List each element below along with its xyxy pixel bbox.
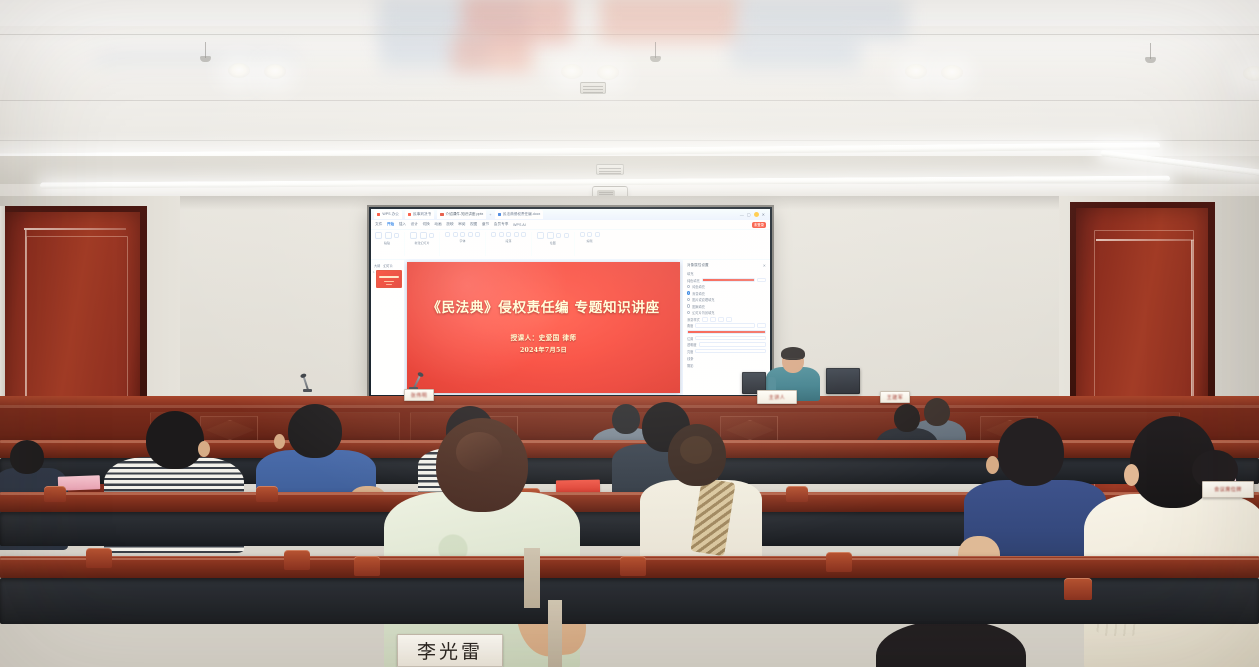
bold-icon[interactable]: [445, 232, 450, 237]
underline-icon[interactable]: [460, 232, 465, 237]
bench-armrest-cap: [256, 486, 278, 502]
format-painter-icon[interactable]: [394, 233, 399, 238]
person-head: [894, 404, 920, 432]
nameplate-text: 王建军: [887, 394, 904, 401]
person-hair-bun: [680, 436, 712, 464]
outline-tab[interactable]: 大纲: [374, 263, 380, 268]
ribbon-tab-animation[interactable]: 动画: [434, 222, 441, 227]
angle-stepper[interactable]: [757, 323, 766, 328]
italic-icon[interactable]: [453, 232, 458, 237]
brightness-row[interactable]: 亮度: [687, 349, 766, 354]
nameplate-text: 李光雷: [417, 637, 483, 664]
wps-tab[interactable]: 民事判决书: [405, 210, 434, 219]
fill-option-row[interactable]: 纯色填充: [687, 284, 766, 289]
radio-picture-fill-icon[interactable]: [687, 298, 690, 301]
font-size-icon[interactable]: [468, 232, 473, 237]
position-input[interactable]: [695, 336, 766, 341]
ceiling-vent: [596, 164, 624, 175]
person-head: [288, 404, 342, 458]
person-ear: [274, 434, 285, 449]
ribbon-tab-member[interactable]: 会员专享: [494, 222, 509, 227]
speaker-nameplate: 主讲人: [757, 390, 797, 404]
radio-pattern-fill-icon[interactable]: [687, 304, 690, 307]
gradient-style-swatch[interactable]: [718, 317, 724, 322]
audience-nameplate-front: 李光雷: [397, 634, 503, 667]
ceiling-reflection: [730, 36, 860, 70]
fill-dropdown[interactable]: [757, 278, 766, 283]
slide-canvas[interactable]: 《民法典》侵权责任编 专题知识讲座 授课人：史爱国 律师 2024年7月5日: [405, 260, 682, 395]
fill-option-row[interactable]: 图片或纹理填充: [687, 297, 766, 302]
gradient-style-swatch[interactable]: [710, 317, 716, 322]
bench-armrest-cap: [786, 486, 808, 502]
section-icon[interactable]: [429, 233, 434, 238]
layout-icon[interactable]: [420, 232, 427, 239]
transparency-label: 透明度: [687, 342, 697, 347]
ribbon-tab-slideshow[interactable]: 放映: [446, 222, 453, 227]
wps-tab-add[interactable]: +: [489, 212, 491, 217]
ribbon-group-newslide[interactable]: 新建幻灯片: [410, 232, 434, 245]
door-light-gap: [1096, 239, 1194, 241]
ribbon-tab-home[interactable]: 开始: [387, 222, 394, 227]
ribbon-tab-wpsai[interactable]: WPS AI: [513, 223, 526, 227]
wps-tab[interactable]: 民法典侵权责任编.docx: [495, 210, 544, 219]
slide-number: 1: [373, 270, 375, 274]
microphone-base: [303, 389, 312, 392]
side-nameplate: 会议席位牌: [1202, 481, 1254, 498]
radio-background-fill-icon[interactable]: [687, 311, 690, 314]
option-label: 图案填充: [692, 304, 705, 309]
fill-color-bar[interactable]: [702, 278, 755, 283]
ceiling-reflection: [452, 36, 532, 72]
ribbon-tab-section[interactable]: 章节: [482, 222, 489, 227]
ribbon-group-label: 新建幻灯片: [414, 241, 429, 245]
ribbon-tab-insert[interactable]: 插入: [399, 222, 406, 227]
ceiling-spotlight: [1243, 66, 1259, 81]
speaker-laptop: [826, 368, 860, 394]
ceiling-reflection: [600, 0, 740, 42]
tab-icon: [377, 213, 380, 216]
ribbon-tab-transition[interactable]: 切换: [423, 222, 430, 227]
paste-icon[interactable]: [375, 232, 382, 239]
audience-person-p13: [876, 620, 1026, 667]
person-ear: [986, 456, 999, 474]
bench-armrest-cap: [284, 550, 310, 570]
account-avatar-icon[interactable]: [754, 212, 759, 217]
bench-armrest-cap: [1064, 578, 1092, 600]
ribbon-separator: [485, 232, 486, 256]
gradient-style-swatch[interactable]: [702, 317, 708, 322]
ribbon-group-font[interactable]: 字体: [445, 232, 480, 243]
ribbon-tab-review[interactable]: 审阅: [458, 222, 465, 227]
transparency-row[interactable]: 透明度: [687, 342, 766, 347]
ribbon-group-editing[interactable]: 编辑: [580, 232, 600, 243]
floor-strip: [524, 548, 540, 608]
gradient-style-label: 渐变样式: [687, 317, 700, 322]
ceiling-spotlight: [561, 64, 583, 79]
speaker-glasses: [783, 358, 803, 362]
slides-tab[interactable]: 幻灯片: [383, 263, 393, 268]
login-pill[interactable]: 未登录: [752, 222, 766, 228]
ceiling-spotlight: [264, 64, 286, 79]
radio-gradient-fill-icon[interactable]: [687, 291, 690, 294]
person-head: [876, 620, 1026, 667]
line-spacing-icon[interactable]: [521, 232, 526, 237]
tab-icon: [408, 213, 411, 216]
slide-thumbnail-1[interactable]: [376, 270, 402, 288]
ribbon-group-paste[interactable]: 粘贴: [375, 232, 399, 245]
thumbnail-date-line: [386, 284, 392, 285]
ceiling-hanger: [205, 42, 206, 58]
slide-presenter: 授课人：史爱国 律师: [511, 332, 577, 342]
shapes-icon[interactable]: [537, 232, 544, 239]
thumbnail-title-line: [379, 276, 399, 278]
position-label: 位置: [687, 336, 693, 341]
fill-option-row[interactable]: 幻灯片背景填充: [687, 310, 766, 315]
ribbon-group-label: 绘图: [550, 241, 556, 245]
gradient-style-row[interactable]: 渐变样式: [687, 317, 766, 322]
slide-content[interactable]: 《民法典》侵权责任编 专题知识讲座 授课人：史爱国 律师 2024年7月5日: [407, 262, 680, 393]
arrange-icon[interactable]: [547, 232, 554, 239]
ceiling-spotlight: [905, 64, 927, 79]
option-label: 纯色填充: [692, 284, 705, 289]
slide-date: 2024年7月5日: [520, 345, 567, 354]
nameplate-text: 张伟明: [411, 392, 428, 399]
person-head: [146, 411, 204, 469]
ribbon-tab-file[interactable]: 文件: [375, 222, 382, 227]
find-icon[interactable]: [580, 232, 585, 237]
copy-icon[interactable]: [385, 232, 392, 239]
shadow-section-label: 阴影: [687, 363, 766, 368]
ribbon-separator: [439, 232, 440, 256]
position-row[interactable]: 位置: [687, 336, 766, 341]
wps-tab[interactable]: WPS 办公: [374, 210, 402, 219]
pane-title-row: 对象属性设置 ✕: [687, 263, 766, 268]
font-color-icon[interactable]: [475, 232, 480, 237]
ribbon-group-label: 字体: [459, 239, 465, 243]
gradient-style-swatch[interactable]: [726, 317, 732, 322]
angle-input[interactable]: [695, 323, 755, 328]
line-section-label: 线条: [687, 356, 766, 361]
audience-person-p10: [640, 424, 762, 564]
wps-tab-label: 民事判决书: [413, 212, 431, 217]
transparency-input[interactable]: [699, 342, 766, 347]
ribbon-group-label: 段落: [505, 239, 511, 243]
ribbon-tab-design[interactable]: 设计: [411, 222, 418, 227]
bench-armrest-cap: [826, 552, 852, 572]
ribbon-group-drawing[interactable]: 绘图: [537, 232, 569, 245]
door-light-gap: [24, 228, 126, 230]
wps-workspace[interactable]: 大纲 幻灯片 1 《民法典》侵权责任编 专题知识讲座: [371, 260, 770, 395]
nameplate-text: 会议席位牌: [1214, 486, 1242, 493]
fill-icon[interactable]: [556, 233, 561, 238]
person-ear: [1124, 464, 1139, 486]
option-label: 幻灯片背景填充: [692, 310, 714, 315]
nameplate-text: 主讲人: [769, 394, 786, 401]
thumbnail-panel-header[interactable]: 大纲 幻灯片: [373, 263, 402, 268]
ribbon-separator: [531, 232, 532, 256]
option-label: 渐变填充: [692, 291, 705, 296]
bench-armrest-cap: [620, 556, 646, 576]
brightness-label: 亮度: [687, 349, 693, 354]
lecture-room-photo: WPS 办公 民事判决书 介绍课件-知识讲座.pptx + 民法典侵权责任编.d…: [0, 0, 1259, 667]
fill-label: 纯色填充: [687, 278, 700, 283]
person-head: [998, 418, 1064, 486]
slide-title: 《民法典》侵权责任编 专题知识讲座: [427, 301, 659, 317]
wps-ribbon-tabs[interactable]: 文件 开始 插入 设计 切换 动画 放映 审阅 视图 章节 会员专享 WPS A…: [371, 220, 770, 230]
tab-icon: [440, 213, 443, 216]
fill-option-row[interactable]: 渐变填充: [687, 291, 766, 296]
laptop-screen: [827, 369, 859, 393]
window-controls[interactable]: — ▢ ✕: [740, 212, 767, 217]
projection-screen: WPS 办公 民事判决书 介绍课件-知识讲座.pptx + 民法典侵权责任编.d…: [369, 207, 772, 397]
tab-icon: [498, 213, 501, 216]
ribbon-group-label: 粘贴: [384, 241, 390, 245]
bench-armrest-cap: [44, 486, 66, 502]
bench-armrest-cap: [354, 556, 380, 576]
new-slide-icon[interactable]: [410, 232, 417, 239]
pane-close-icon[interactable]: ✕: [763, 263, 766, 268]
ribbon-group-paragraph[interactable]: 段落: [491, 232, 526, 243]
ribbon-group-label: 编辑: [586, 239, 592, 243]
align-left-icon[interactable]: [506, 232, 511, 237]
bullets-icon[interactable]: [491, 232, 496, 237]
close-icon[interactable]: ✕: [762, 212, 765, 217]
front-nameplate: 张伟明: [404, 389, 434, 401]
pane-section-label: 填充: [687, 271, 766, 276]
outline-icon[interactable]: [564, 233, 569, 238]
ribbon-right-actions[interactable]: 未登录: [752, 222, 766, 228]
floor-strip: [548, 600, 562, 667]
bench-armrest-cap: [86, 548, 112, 568]
minimize-icon[interactable]: —: [740, 212, 744, 217]
ceiling-reflection: [96, 50, 296, 68]
ceiling-spotlight: [941, 65, 963, 80]
audience-person-p12: [1084, 416, 1259, 667]
stop-color-row[interactable]: [687, 330, 766, 335]
ribbon-separator: [404, 232, 405, 256]
select-icon[interactable]: [595, 232, 600, 237]
angle-label: 角度: [687, 323, 693, 328]
wps-tab-label: WPS 办公: [382, 212, 398, 217]
align-center-icon[interactable]: [514, 232, 519, 237]
brightness-input[interactable]: [695, 349, 766, 354]
ceiling-vent: [580, 82, 606, 94]
person-head: [10, 440, 44, 474]
radio-solid-fill-icon[interactable]: [687, 285, 690, 288]
slide-thumbnail-panel[interactable]: 大纲 幻灯片 1: [371, 260, 405, 395]
fill-color-row[interactable]: 纯色填充: [687, 278, 766, 283]
thumbnail-subtitle-line: [384, 281, 394, 282]
ceiling-reflection: [738, 0, 908, 40]
ribbon-tab-view[interactable]: 视图: [470, 222, 477, 227]
ceiling-spotlight: [597, 65, 619, 80]
wps-tab-label: 介绍课件-知识讲座.pptx: [446, 212, 484, 217]
wps-office-window[interactable]: WPS 办公 民事判决书 介绍课件-知识讲座.pptx + 民法典侵权责任编.d…: [371, 209, 770, 395]
ceiling-hanger: [655, 42, 656, 58]
ribbon-separator: [574, 232, 575, 256]
wps-ribbon[interactable]: 粘贴 新建幻灯片: [371, 230, 770, 260]
gradient-stop-bar[interactable]: [687, 330, 766, 335]
wps-tab-active[interactable]: 介绍课件-知识讲座.pptx: [437, 210, 486, 219]
ceiling-spotlight: [228, 63, 250, 78]
front-nameplate: 王建军: [880, 391, 910, 403]
maximize-icon[interactable]: ▢: [747, 212, 751, 217]
person-ear: [198, 441, 210, 457]
ceiling-hanger: [1150, 43, 1151, 59]
numbering-icon[interactable]: [499, 232, 504, 237]
wps-tab-bar[interactable]: WPS 办公 民事判决书 介绍课件-知识讲座.pptx + 民法典侵权责任编.d…: [371, 209, 770, 220]
pane-title: 对象属性设置: [687, 263, 709, 268]
angle-row[interactable]: 角度: [687, 323, 766, 328]
wps-tab-label: 民法典侵权责任编.docx: [503, 212, 540, 217]
fill-option-row[interactable]: 图案填充: [687, 304, 766, 309]
person-hair-bun: [456, 432, 502, 472]
option-label: 图片或纹理填充: [692, 297, 714, 302]
replace-icon[interactable]: [587, 232, 592, 237]
